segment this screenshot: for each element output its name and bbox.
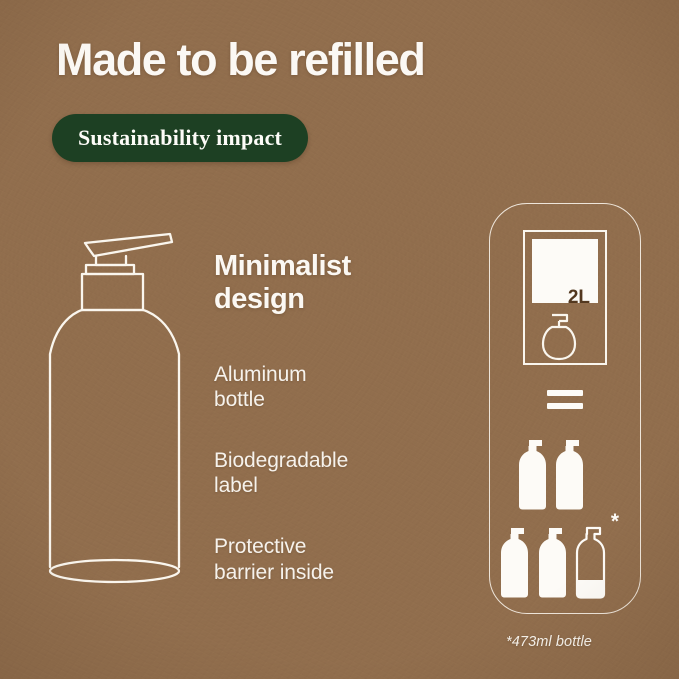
page-title: Made to be refilled (56, 36, 424, 83)
feature-item-biodegradable-label: Biodegradable label (214, 448, 444, 499)
feature-item-protective-barrier: Protective barrier inside (214, 534, 444, 585)
feature-list: Minimalist design Aluminum bottle Biodeg… (214, 250, 444, 585)
pump-bottle-outline-icon (38, 222, 216, 600)
status-badge: Sustainability impact (52, 114, 308, 162)
feature-item-line1: Biodegradable (214, 448, 444, 474)
footnote-text: *473ml bottle (506, 634, 592, 650)
feature-item-line2: bottle (214, 387, 444, 413)
feature-heading-line1: Minimalist (214, 250, 444, 283)
feature-heading-line2: design (214, 283, 444, 316)
feature-item-line2: barrier inside (214, 560, 444, 586)
badge-label: Sustainability impact (78, 125, 282, 151)
promo-graphic: Made to be refilled Sustainability impac… (0, 0, 679, 679)
feature-heading: Minimalist design (214, 250, 444, 316)
feature-item-line2: label (214, 473, 444, 499)
feature-item-line1: Aluminum (214, 362, 444, 388)
refill-panel (489, 203, 641, 614)
feature-item-line1: Protective (214, 534, 444, 560)
feature-item-aluminum-bottle: Aluminum bottle (214, 362, 444, 413)
